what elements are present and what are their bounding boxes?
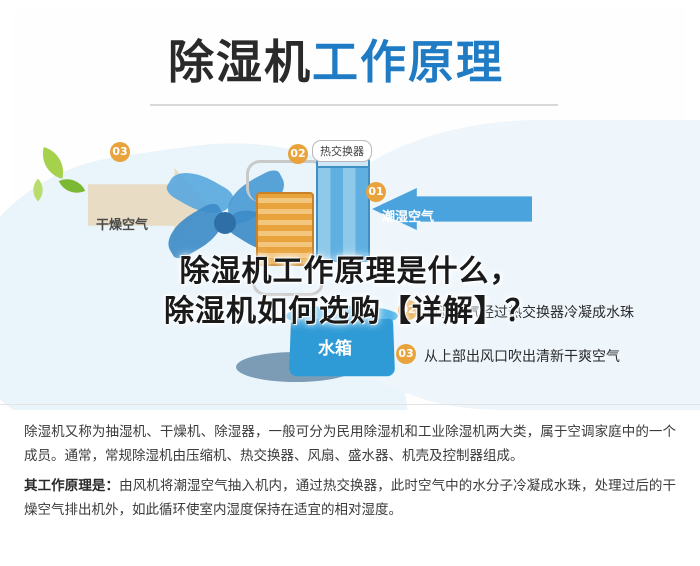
article-paragraph-1: 除湿机又称为抽湿机、干燥机、除湿器，一般可分为民用除湿机和工业除湿机两大类，属于…	[24, 420, 676, 468]
fan-hub-icon	[214, 212, 236, 234]
article-body: 除湿机又称为抽湿机、干燥机、除湿器，一般可分为民用除湿机和工业除湿机两大类，属于…	[0, 412, 700, 566]
section-divider	[0, 404, 700, 405]
title-underline	[150, 104, 558, 106]
heat-exchanger-label: 热交换器	[312, 140, 372, 162]
illustration-title-part1: 除湿机	[168, 35, 312, 89]
dehumidifier-principle-illustration: 除湿机工作原理 干燥空气 热交换器 潮湿空气 水箱 01 02 03 02 03…	[0, 0, 700, 410]
step-text-3: 从上部出风口吹出清新干爽空气	[424, 346, 620, 366]
heat-exchanger-icon	[316, 166, 370, 262]
step-badge-01: 01	[366, 182, 386, 202]
article-paragraph-2-text: 由风机将潮湿空气抽入机内，通过热交换器，此时空气中的水分子冷凝成水珠，处理过后的…	[24, 478, 676, 518]
page-root: 除湿机工作原理 干燥空气 热交换器 潮湿空气 水箱 01 02 03 02 03…	[0, 0, 700, 566]
dry-air-label: 干燥空气	[96, 214, 148, 233]
water-tank-label: 水箱	[318, 334, 352, 359]
moist-air-label: 潮湿空气	[382, 206, 434, 225]
step-badge-02: 02	[288, 144, 308, 164]
article-paragraph-2-lead: 其工作原理是：	[24, 478, 119, 494]
overlay-headline: 除湿机工作原理是什么， 除湿机如何选购【详解】？	[0, 252, 700, 332]
illustration-title: 除湿机工作原理	[168, 26, 504, 92]
article-paragraph-2: 其工作原理是：由风机将潮湿空气抽入机内，通过热交换器，此时空气中的水分子冷凝成水…	[24, 474, 676, 522]
overlay-headline-line1: 除湿机工作原理是什么，	[0, 252, 700, 292]
step-badge-03: 03	[110, 142, 130, 162]
step-badge-03-bottom: 03	[396, 344, 416, 364]
overlay-headline-line2: 除湿机如何选购【详解】？	[0, 292, 700, 332]
illustration-title-part2: 工作原理	[312, 35, 504, 89]
